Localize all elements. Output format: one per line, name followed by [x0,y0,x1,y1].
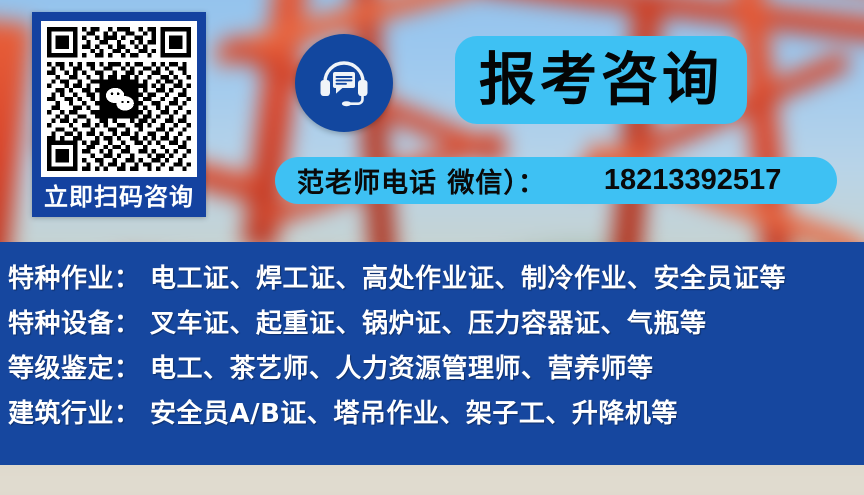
course-category-row: 特种作业： 电工证、焊工证、高处作业证、制冷作业、安全员证等 [8,258,864,303]
course-category-value: 安全员A/B证、塔吊作业、架子工、升降机等 [150,393,678,430]
title-badge[interactable]: 报考咨询 [455,36,747,124]
course-category-row: 特种设备： 叉车证、起重证、锅炉证、压力容器证、气瓶等 [8,303,864,348]
promo-poster: 立即扫码咨询 报考咨询 范老师电话 微信）： 18213392517 [0,0,864,495]
wechat-qr-code-icon [47,27,191,171]
qr-code-image[interactable] [41,21,197,177]
headset-support-icon [312,51,376,115]
course-category-row: 建筑行业： 安全员A/B证、塔吊作业、架子工、升降机等 [8,393,864,438]
course-category-label: 等级鉴定： [8,348,150,385]
course-categories-footer: 特种作业： 电工证、焊工证、高处作业证、制冷作业、安全员证等 特种设备： 叉车证… [0,242,864,465]
title-badge-label: 报考咨询 [479,52,723,109]
course-category-value: 叉车证、起重证、锅炉证、压力容器证、气瓶等 [150,303,707,340]
qr-card[interactable]: 立即扫码咨询 [32,12,206,217]
contact-bar[interactable]: 范老师电话 微信）： 18213392517 [275,157,837,204]
course-category-label: 建筑行业： [8,393,150,430]
course-category-value: 电工证、焊工证、高处作业证、制冷作业、安全员证等 [150,258,786,295]
course-category-row: 等级鉴定： 电工、茶艺师、人力资源管理师、营养师等 [8,348,864,393]
headset-badge[interactable] [295,34,393,132]
course-category-label: 特种设备： [8,303,150,340]
course-category-list: 特种作业： 电工证、焊工证、高处作业证、制冷作业、安全员证等 特种设备： 叉车证… [8,258,864,438]
contact-phone-number[interactable]: 18213392517 [604,164,781,197]
qr-caption: 立即扫码咨询 [35,181,203,214]
course-category-value: 电工、茶艺师、人力资源管理师、营养师等 [150,348,654,385]
contact-label: 范老师电话 微信）： [297,161,546,200]
course-category-label: 特种作业： [8,258,150,295]
